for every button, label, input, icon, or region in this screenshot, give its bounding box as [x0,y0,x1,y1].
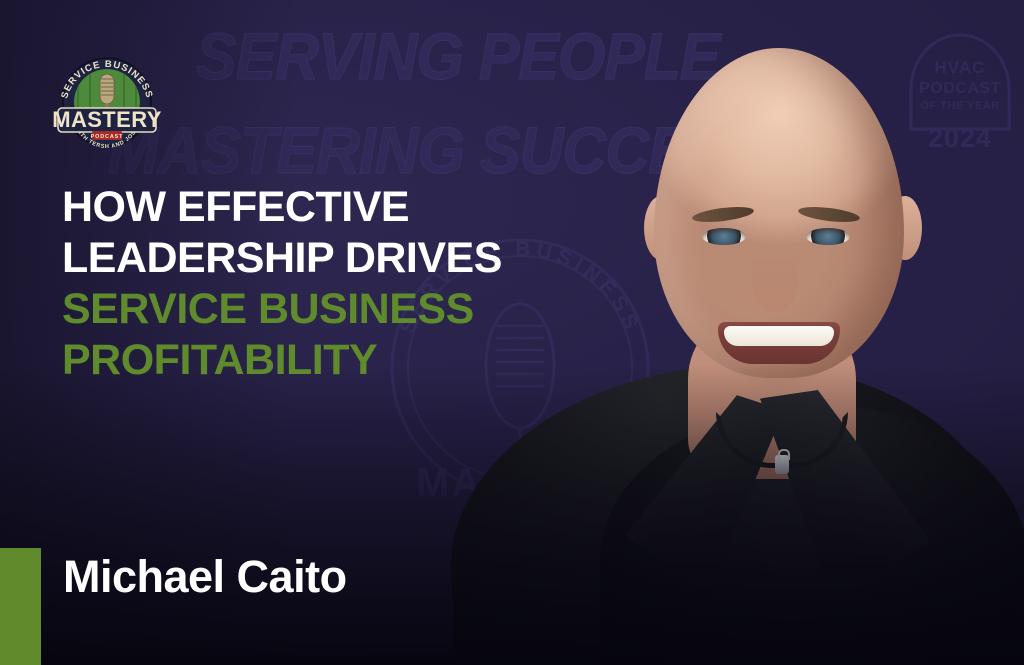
svg-text:MASTERY: MASTERY [52,107,162,132]
nose-shape [752,252,798,312]
mouth-shape [718,322,840,364]
brand-logo-icon: SERVICE BUSINESS WITH TERSH AND JOSH MAS… [52,52,162,157]
title-line-4: PROFITABILITY [62,335,582,386]
title-line-2: LEADERSHIP DRIVES [62,233,582,284]
accent-bar [0,548,41,665]
episode-title: HOW EFFECTIVE LEADERSHIP DRIVES SERVICE … [62,182,582,386]
eye-right-shape [806,228,850,245]
title-line-3: SERVICE BUSINESS [62,284,582,335]
podcast-episode-thumbnail: SERVING PEOPLE MASTERING SUCCESS SERVICE… [0,0,1024,665]
speaker-name: Michael Caito [63,549,347,605]
title-line-1: HOW EFFECTIVE [62,182,582,233]
eye-left-shape [702,228,746,245]
svg-text:PODCAST: PODCAST [91,134,124,140]
bottom-vignette [0,365,1024,665]
teeth-shape [724,326,834,346]
